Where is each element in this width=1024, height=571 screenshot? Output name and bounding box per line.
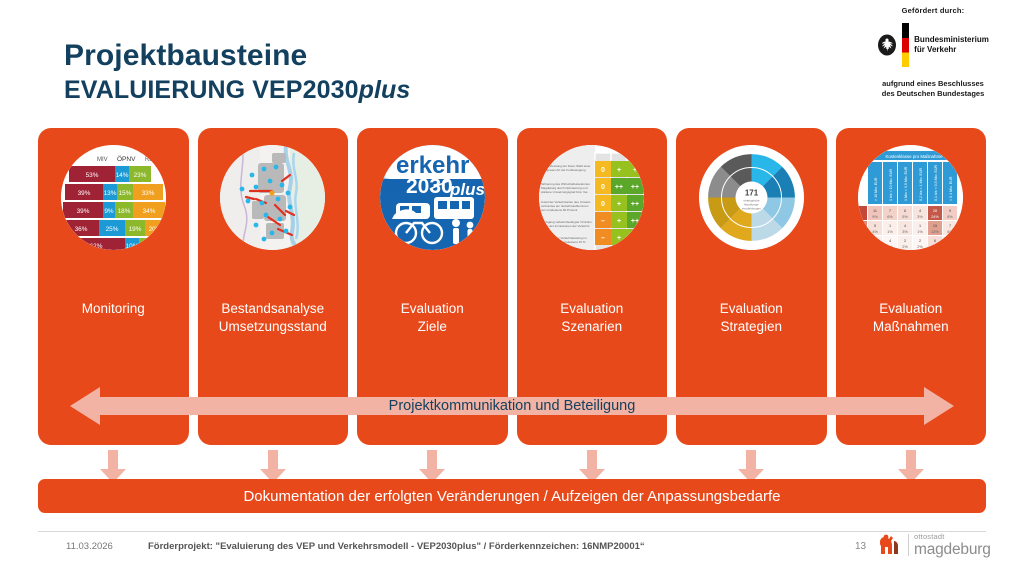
card-label-line1: Bestandsanalyse	[202, 300, 345, 318]
communication-label: Projektkommunikation und Beteiligung	[70, 385, 954, 427]
svg-text:3%: 3%	[903, 230, 909, 234]
svg-text:18%: 18%	[117, 208, 130, 215]
svg-text:+: +	[617, 218, 621, 225]
svg-text:9%: 9%	[104, 208, 114, 215]
card-label: Evaluation Szenarien	[517, 300, 668, 336]
svg-text:9%: 9%	[873, 215, 879, 219]
svg-text:MIV: MIV	[97, 157, 108, 163]
svg-text:Kostenklasse pro Maßnahme: Kostenklasse pro Maßnahme	[886, 154, 944, 159]
svg-text:stärkere Umsetzungsgrad bzw. V: stärkere Umsetzungsgrad bzw. Ver-	[541, 190, 589, 194]
german-flag-bar-icon	[902, 23, 909, 67]
svg-text:24%: 24%	[931, 215, 939, 219]
svg-text:1: 1	[889, 224, 891, 228]
svg-text:36%: 36%	[74, 226, 87, 233]
svg-text:+: +	[617, 167, 621, 174]
svg-text:–: –	[601, 218, 605, 225]
federal-eagle-icon	[877, 34, 897, 56]
svg-text:+: +	[617, 201, 621, 208]
svg-text:33%: 33%	[141, 190, 154, 197]
svg-text:0: 0	[601, 167, 605, 174]
svg-text:2%: 2%	[903, 245, 909, 249]
svg-text:23%: 23%	[133, 172, 146, 179]
svg-text:1%: 1%	[918, 230, 924, 234]
svg-text:++: ++	[631, 184, 639, 191]
svg-text:1%: 1%	[873, 245, 879, 249]
card-label-line2: Strategien	[680, 318, 823, 336]
card-label-line1: Evaluation	[680, 300, 823, 318]
svg-text:2: 2	[919, 239, 921, 243]
funding-bottom-note: aufgrund eines Beschlusses des Deutschen…	[858, 79, 1008, 99]
svg-text:5: 5	[874, 224, 876, 228]
svg-text:> 10 Mio. EUR: > 10 Mio. EUR	[874, 177, 878, 201]
svg-text:ÖPNV: ÖPNV	[117, 155, 136, 163]
svg-text:+: +	[633, 167, 637, 174]
title-subtitle: EVALUIERUNG VEP2030plus	[64, 75, 410, 105]
svg-text:sowie der Immissionen der Verk: sowie der Immissionen der Verkehrs	[541, 224, 590, 228]
card-label: Evaluation Maßnahmen	[836, 300, 987, 336]
svg-text:62%: 62%	[89, 243, 102, 250]
svg-text:0,1 bis < 0,5 Mio. EUR: 0,1 bis < 0,5 Mio. EUR	[934, 165, 938, 201]
svg-text:5%: 5%	[933, 245, 939, 249]
svg-text:6%: 6%	[948, 230, 954, 234]
strategy-donut-chart: 171 strategische Handlungs- empfehlungen	[699, 145, 804, 250]
footer-date: 11.03.2026	[66, 541, 113, 552]
svg-text:1%: 1%	[948, 245, 954, 249]
svg-text:53%: 53%	[85, 172, 98, 179]
card-label-line1: Evaluation	[361, 300, 504, 318]
svg-text:6: 6	[934, 239, 936, 243]
footer-divider	[38, 531, 986, 532]
svg-text:++: ++	[631, 201, 639, 208]
svg-text:1%: 1%	[888, 230, 894, 234]
svg-text:–: –	[601, 235, 605, 242]
svg-text:3%: 3%	[918, 215, 924, 219]
svg-text:plus: plus	[449, 180, 485, 199]
card-label-line1: Evaluation	[521, 300, 664, 318]
svg-text:1: 1	[919, 224, 921, 228]
svg-text:20%: 20%	[148, 226, 161, 233]
magdeburg-wordmark: ottostadt magdeburg	[914, 533, 991, 557]
svg-text:< 0,1 Mio. EUR: < 0,1 Mio. EUR	[949, 176, 953, 201]
title-subtitle-italic: plus	[359, 76, 411, 104]
svg-text:25%: 25%	[105, 226, 118, 233]
svg-text:+: +	[633, 235, 637, 242]
svg-text:7: 7	[949, 224, 951, 228]
summary-banner: Dokumentation der erfolgten Veränderunge…	[38, 479, 986, 513]
ministry-name: Bundesministerium für Verkehr	[914, 35, 989, 55]
logo-otto-label: ottostadt	[914, 533, 991, 541]
logo-divider	[908, 534, 909, 556]
magdeburg-rider-icon	[877, 532, 903, 558]
svg-text:geeigneten Art der Fortbewegun: geeigneten Art der Fortbewegung	[541, 168, 586, 172]
ministry-line1: Bundesministerium	[914, 35, 989, 45]
card-label-line2: Ziele	[361, 318, 504, 336]
svg-text:16%: 16%	[141, 243, 154, 250]
svg-text:9: 9	[949, 209, 951, 213]
svg-text:0,2 bis < 1 Mio. EUR: 0,2 bis < 1 Mio. EUR	[919, 168, 923, 201]
page-number: 13	[855, 541, 866, 552]
svg-text:7: 7	[889, 209, 891, 213]
page-title: Projektbausteine EVALUIERUNG VEP2030plus	[64, 38, 410, 105]
slide-root: Projektbausteine EVALUIERUNG VEP2030plus…	[0, 0, 1024, 571]
logo-city-name: magdeburg	[914, 542, 991, 558]
svg-text:34%: 34%	[142, 208, 155, 215]
svg-text:2%: 2%	[918, 245, 924, 249]
card-label-line1: Monitoring	[42, 300, 185, 318]
title-main: Projektbausteine	[64, 38, 410, 73]
svg-text:0: 0	[601, 201, 605, 208]
vep2030plus-logo: erkehr 2030 plus	[380, 145, 485, 250]
funding-top-label: Gefördert durch:	[858, 6, 1008, 15]
svg-text:+: +	[617, 235, 621, 242]
svg-text:2: 2	[904, 239, 906, 243]
card-label-line2: Umsetzungsstand	[202, 318, 345, 336]
svg-text:13%: 13%	[931, 230, 939, 234]
card-label: Evaluation Ziele	[357, 300, 508, 336]
funding-logo-block: Gefördert durch: Bundesministerium für V…	[858, 6, 1008, 99]
svg-text:28: 28	[933, 209, 937, 213]
svg-text:Rad: Rad	[145, 157, 156, 163]
svg-text:4%: 4%	[873, 230, 879, 234]
svg-text:11: 11	[873, 209, 877, 213]
svg-text:19%: 19%	[128, 226, 141, 233]
svg-text:++: ++	[631, 218, 639, 225]
ministry-row: Bundesministerium für Verkehr	[858, 23, 1008, 67]
card-label: Evaluation Strategien	[676, 300, 827, 336]
ministry-line2: für Verkehr	[914, 45, 989, 55]
footer-project-text: Förderprojekt: "Evaluierung des VEP und …	[148, 541, 645, 552]
city-map-magdeburg	[220, 145, 325, 250]
svg-text:6%: 6%	[888, 215, 894, 219]
communication-arrow-band: Projektkommunikation und Beteiligung	[70, 385, 954, 427]
svg-text:4: 4	[919, 209, 921, 213]
svg-text:++: ++	[615, 184, 623, 191]
svg-text:1: 1	[949, 239, 951, 243]
measures-cost-table: Kostenklasse pro Maßnahme > 10 Mio. EUR …	[858, 145, 963, 250]
svg-text:von mindestens 60 Prozent: von mindestens 60 Prozent	[541, 208, 578, 212]
card-label-line2: Maßnahmen	[840, 318, 983, 336]
svg-text:8%: 8%	[948, 215, 954, 219]
svg-text:1 bis < 10 Mio. EUR: 1 bis < 10 Mio. EUR	[889, 169, 893, 201]
svg-text:13%: 13%	[103, 190, 116, 197]
svg-text:6: 6	[904, 209, 906, 213]
svg-text:5%: 5%	[903, 215, 909, 219]
card-label: Monitoring	[38, 300, 189, 318]
card-label-line1: Evaluation	[840, 300, 983, 318]
svg-text:10%: 10%	[125, 243, 138, 250]
svg-text:Kfz-Verkehr um mindestens 15 %: Kfz-Verkehr um mindestens 15 %	[541, 240, 586, 244]
scenario-rating-matrix: Gewährleistung der freien Wahl einer gee…	[539, 145, 644, 250]
svg-text:39%: 39%	[77, 190, 90, 197]
svg-text:0: 0	[601, 184, 605, 191]
card-label: Bestandsanalyse Umsetzungsstand	[198, 300, 349, 336]
funding-bottom-line1: aufgrund eines Beschlusses	[858, 79, 1008, 89]
svg-text:1: 1	[874, 239, 876, 243]
svg-text:2030: 2030	[406, 175, 453, 198]
svg-text:1 Mio < 0,5 Mio. EUR: 1 Mio < 0,5 Mio. EUR	[904, 166, 908, 201]
svg-text:4: 4	[889, 239, 891, 243]
svg-text:empfehlungen: empfehlungen	[742, 207, 761, 211]
funding-bottom-line2: des Deutschen Bundestages	[858, 89, 1008, 99]
svg-text:15: 15	[933, 224, 937, 228]
stacked-bar-chart-modal-split: MIV ÖPNV Rad 53% 14% 23% 39% 13% 15% 33%…	[61, 145, 166, 250]
donut-center-number: 171	[745, 189, 759, 198]
svg-text:14%: 14%	[115, 172, 128, 179]
svg-text:39%: 39%	[76, 208, 89, 215]
card-label-line2: Szenarien	[521, 318, 664, 336]
svg-text:15%: 15%	[118, 190, 131, 197]
svg-text:1%: 1%	[888, 245, 894, 249]
title-subtitle-normal: EVALUIERUNG VEP2030	[64, 76, 359, 104]
magdeburg-logo: ottostadt magdeburg	[877, 532, 991, 558]
summary-banner-text: Dokumentation der erfolgten Veränderunge…	[243, 488, 780, 505]
svg-text:4: 4	[904, 224, 906, 228]
